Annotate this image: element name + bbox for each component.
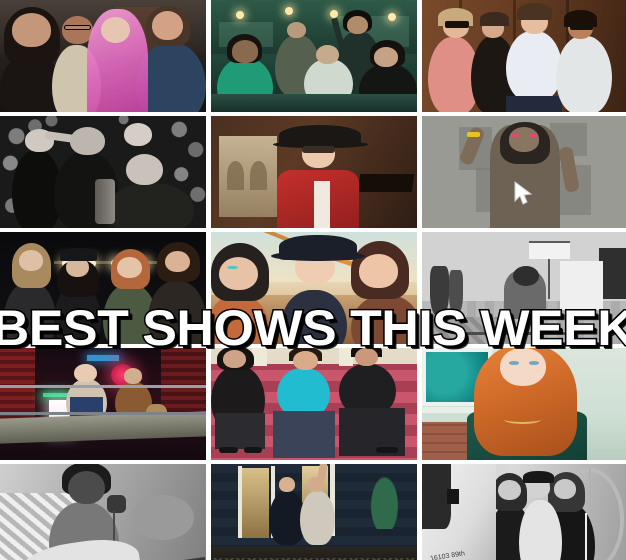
door-frame-left [238,466,242,538]
white-shirt [314,181,330,228]
person-2-head [293,351,318,370]
person-1-head [232,40,259,62]
person-2-body [300,491,335,545]
person-1-head [74,364,97,382]
person-1-head [12,13,51,47]
person-1-head [498,480,521,500]
best-shows-poster: 16103 89th BEST SHOWS THIS WEEK [0,0,626,560]
person-2-head [287,22,306,38]
wrist-bangles [467,132,479,138]
photo-tile-r4c2[interactable] [211,348,417,460]
person-1-sunglasses [445,21,470,28]
photo-art [211,0,417,112]
photo-tile-r2c3[interactable] [422,116,626,228]
photo-tile-r3c3[interactable] [422,232,626,344]
photo-art [0,116,206,228]
person-3-trousers [506,96,562,112]
person-5-head [374,47,399,67]
person-head [500,348,545,386]
photo-art [211,232,417,344]
person-2-glasses [64,25,91,31]
photo-art [211,348,417,460]
person-2-hair [480,12,509,25]
photo-tile-r5c1[interactable] [0,464,206,560]
drum-kit [132,495,194,540]
person-4-head [126,154,163,185]
photo-tile-r2c1[interactable] [0,116,206,228]
person-3-body [339,364,397,416]
person-2-head [124,368,143,384]
photo-art [0,348,206,460]
photo-art [422,0,626,112]
photo-art [422,348,626,460]
microphone [107,495,126,513]
photo-tile-r4c3[interactable] [422,348,626,460]
altar-arch-1 [227,161,243,190]
neon-sign-blue [87,355,120,362]
right-eye [529,361,539,364]
photo-tile-r2c2[interactable] [211,116,417,228]
person-3-head [355,348,378,366]
person-3-head [316,45,339,64]
photo-art [422,232,626,344]
guitar-1 [430,266,449,318]
amplifier-cabinet [560,261,603,310]
facade-column-1 [252,348,266,366]
person-3-head [101,17,130,43]
photo-tile-r3c1[interactable] [0,232,206,344]
face-paint-right [529,134,537,137]
photo-art [211,116,417,228]
guitarist-head [68,471,105,505]
cables-on-floor [463,332,570,335]
table-foreground [211,94,417,112]
photo-art: 16103 89th [422,464,626,560]
sheet-music [529,243,570,259]
photo-grid: 16103 89th [0,0,626,560]
photo-tile-r5c3[interactable]: 16103 89th [422,464,626,560]
photo-tile-r1c2[interactable] [211,0,417,112]
photo-tile-r5c2[interactable] [211,464,417,560]
handrail-upper [0,385,206,388]
person-3-head [117,257,142,278]
person-4-body [556,36,612,112]
guitar-2 [449,270,463,315]
photo-art [0,232,206,344]
person-1-head [219,257,258,291]
person-head [509,127,540,152]
grand-piano [358,174,414,192]
person-2-head [70,127,105,155]
person-3-hair [517,3,552,20]
left-eye [509,361,519,364]
sunglasses [302,146,335,153]
photo-tile-r1c1[interactable] [0,0,206,112]
face-paint-left [511,134,519,137]
person-3-shoe [376,447,399,454]
neon-sign-green [43,393,68,397]
person-2-hat [60,248,97,261]
person-1-head [19,250,44,271]
person-1-head [223,350,246,368]
photo-art [0,464,206,560]
person-head [513,266,540,286]
ceiling-lamp-1 [236,11,244,19]
tracksuit-stripe [585,513,587,560]
person-1-body [4,282,56,344]
altar-arch-2 [250,161,266,190]
potted-plant [368,471,401,529]
person-3-head [554,479,577,499]
person-2-jeans [273,411,335,458]
person-1-head [279,477,295,492]
handrail-lower [0,412,206,415]
music-stand-pole [548,259,550,299]
person-1-legs [215,413,264,449]
photo-art [0,0,206,112]
person-4-body [107,183,194,228]
doorway-left [242,468,269,537]
person-2-head [308,477,324,492]
photo-art [422,116,626,228]
person-2-beanie [523,471,554,483]
photo-tile-r3c2[interactable] [211,232,417,344]
person-1-shoe-right [244,447,263,454]
floor-rug [422,317,513,344]
photo-tile-r4c1[interactable] [0,348,206,460]
person-1-shoe-left [219,447,238,454]
photo-tile-r1c3[interactable] [422,0,626,112]
ceiling-lamp-2 [285,7,293,15]
person-4-body [148,281,206,344]
person-3-head [359,254,398,288]
truck-mirror [447,489,459,505]
held-log [95,179,116,224]
person-4-sunglasses [570,24,593,31]
person-4-head [165,251,190,272]
person-1-eye-makeup [227,266,237,269]
photo-art [211,464,417,560]
person-4-head [347,16,368,34]
person-3-head [124,123,153,147]
person-3-body [506,31,562,100]
person-4-head [152,11,183,40]
